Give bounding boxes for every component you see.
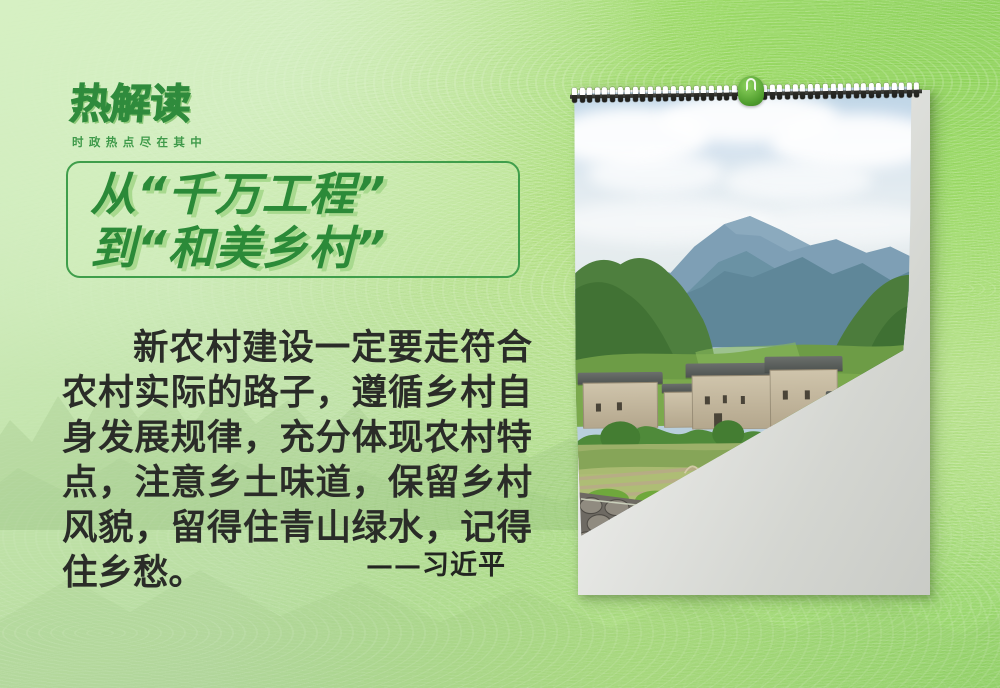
binding-ring xyxy=(602,87,607,102)
poster-canvas: 热解读 时政热点尽在其中 从“千万工程” 到“和美乡村” 新农村建设一定要走符合… xyxy=(0,0,1000,688)
binding-ring xyxy=(853,83,858,98)
binding-ring xyxy=(671,86,676,101)
binding-ring xyxy=(777,84,782,99)
binding-ring xyxy=(800,84,805,99)
binding-ring xyxy=(663,86,668,101)
binding-ring xyxy=(884,83,889,98)
binding-ring xyxy=(792,84,797,99)
binding-ring xyxy=(732,85,737,100)
binding-ring xyxy=(869,83,874,98)
binding-ring xyxy=(876,83,881,98)
binding-ring xyxy=(587,87,592,102)
binding-ring xyxy=(701,86,706,101)
binding-ring xyxy=(617,87,622,102)
wall-calendar xyxy=(556,60,956,580)
binding-ring xyxy=(907,82,912,97)
spiral-binding xyxy=(570,84,922,106)
binding-ring xyxy=(678,86,683,101)
binding-ring xyxy=(648,86,653,101)
binding-ring xyxy=(914,82,919,97)
binding-ring xyxy=(610,87,615,102)
binding-ring xyxy=(785,84,790,99)
headline-line-2: 到“和美乡村” xyxy=(68,221,518,275)
binding-ring xyxy=(815,84,820,99)
binding-ring xyxy=(686,86,691,101)
binding-ring xyxy=(579,88,584,103)
binding-ring xyxy=(891,83,896,98)
binding-ring xyxy=(633,87,638,102)
binding-ring xyxy=(861,83,866,98)
brand-logo: 热解读 时政热点尽在其中 xyxy=(70,84,290,150)
binding-ring xyxy=(770,85,775,100)
brand-logo-text: 热解读 xyxy=(68,84,292,125)
quote-attribution: ——习近平 xyxy=(62,543,530,582)
binding-ring xyxy=(724,85,729,100)
binding-ring xyxy=(808,84,813,99)
left-content-column: 热解读 时政热点尽在其中 从“千万工程” 到“和美乡村” 新农村建设一定要走符合… xyxy=(0,0,560,688)
binding-ring xyxy=(640,87,645,102)
binding-ring xyxy=(572,88,577,103)
binding-ring xyxy=(838,84,843,99)
binding-ring xyxy=(831,84,836,99)
binding-ring xyxy=(595,87,600,102)
headline-line-1: 从“千万工程” xyxy=(68,163,518,221)
brand-logo-subtitle: 时政热点尽在其中 xyxy=(72,134,290,150)
calendar-hook-hole xyxy=(746,78,756,91)
binding-ring xyxy=(656,86,661,101)
binding-ring xyxy=(899,83,904,98)
binding-ring xyxy=(716,85,721,100)
headline-box: 从“千万工程” 到“和美乡村” xyxy=(66,161,520,278)
binding-ring xyxy=(709,86,714,101)
binding-ring xyxy=(625,87,630,102)
binding-ring xyxy=(823,84,828,99)
binding-ring xyxy=(694,86,699,101)
binding-ring xyxy=(846,83,851,98)
